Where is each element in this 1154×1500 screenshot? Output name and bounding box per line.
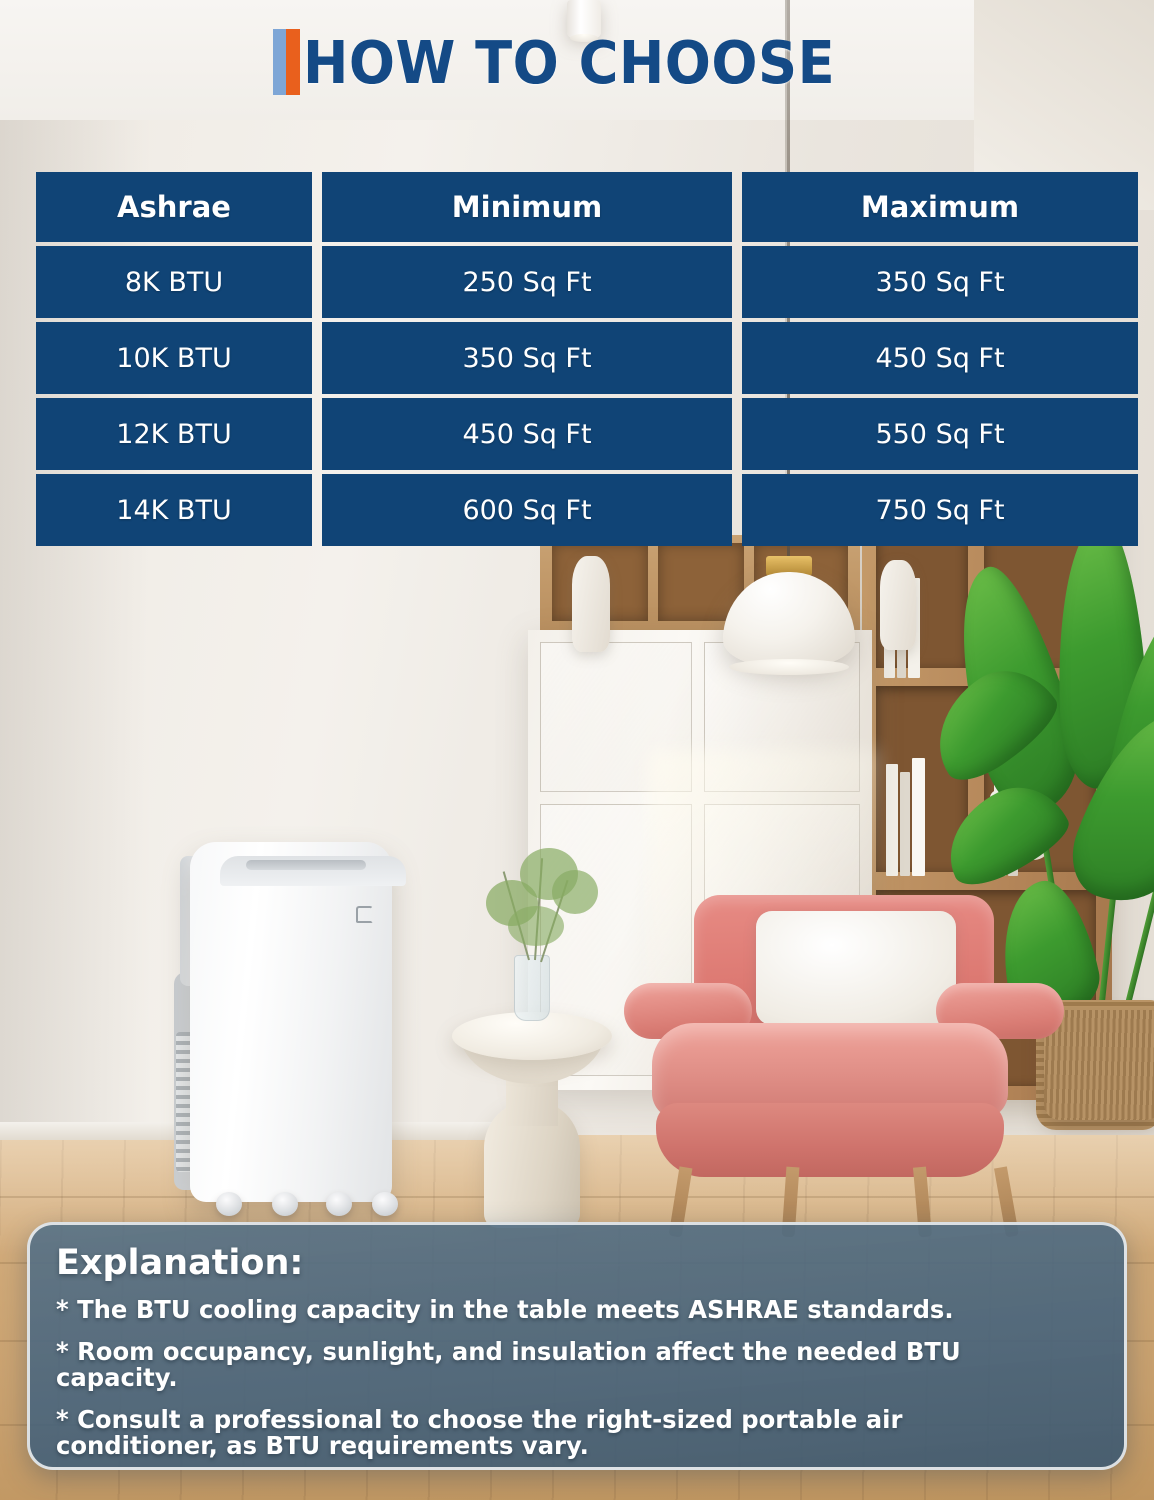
table-cell: 350 Sq Ft xyxy=(742,246,1138,318)
explanation-lines: * The BTU cooling capacity in the table … xyxy=(56,1297,1098,1460)
explanation-title: Explanation: xyxy=(56,1243,1098,1283)
table-cell: 750 Sq Ft xyxy=(742,474,1138,546)
table-cell: 10K BTU xyxy=(36,322,312,394)
white-pillow xyxy=(756,911,956,1025)
explanation-bullet: * The BTU cooling capacity in the table … xyxy=(56,1297,1067,1324)
table-cell: 450 Sq Ft xyxy=(742,322,1138,394)
table-cell: 600 Sq Ft xyxy=(322,474,732,546)
accent-bar-blue xyxy=(273,29,286,95)
table-header-2: Maximum xyxy=(742,172,1138,242)
pink-armchair xyxy=(616,895,1064,1240)
table-header-1: Minimum xyxy=(322,172,732,242)
explanation-bullet: * Room occupancy, sunlight, and insulati… xyxy=(56,1339,1067,1392)
accent-bar-orange xyxy=(286,29,300,95)
explanation-panel: Explanation: * The BTU cooling capacity … xyxy=(27,1222,1127,1470)
table-cell: 550 Sq Ft xyxy=(742,398,1138,470)
brand-logo-icon xyxy=(356,906,373,923)
explanation-bullet: * Consult a professional to choose the r… xyxy=(56,1407,1067,1460)
btu-sizing-table: AshraeMinimumMaximum8K BTU250 Sq Ft350 S… xyxy=(36,172,1118,546)
table-cell: 8K BTU xyxy=(36,246,312,318)
title-accent-bars xyxy=(273,29,300,95)
portable-air-conditioner xyxy=(168,820,414,1220)
table-cell: 450 Sq Ft xyxy=(322,398,732,470)
table-cell: 14K BTU xyxy=(36,474,312,546)
table-cell: 12K BTU xyxy=(36,398,312,470)
vase-finial-right xyxy=(880,560,916,650)
table-cell: 350 Sq Ft xyxy=(322,322,732,394)
table-header-0: Ashrae xyxy=(36,172,312,242)
vase-finial-left xyxy=(572,556,610,652)
page-title: HOW TO CHOOSE xyxy=(0,22,1154,102)
title-text: HOW TO CHOOSE xyxy=(303,33,835,92)
table-cell: 250 Sq Ft xyxy=(322,246,732,318)
